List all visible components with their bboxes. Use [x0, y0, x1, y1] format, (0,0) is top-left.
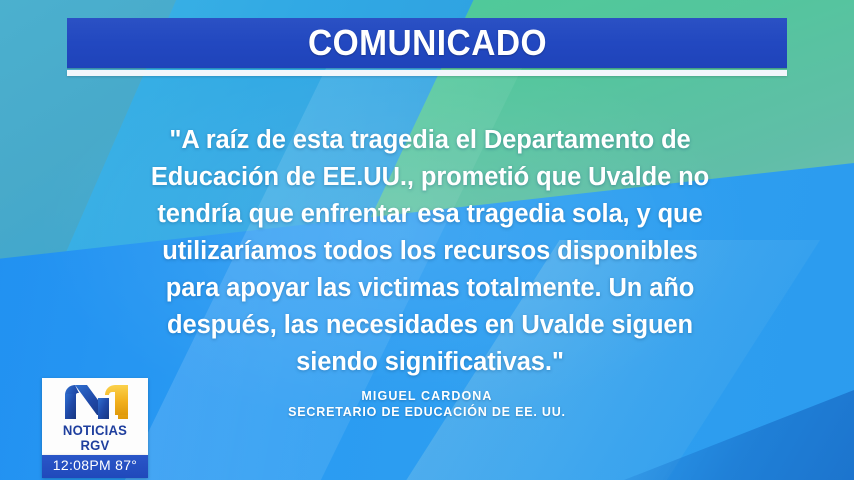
banner-bar: COMUNICADO: [67, 18, 787, 68]
station-wordmark: NOTICIAS RGV: [48, 423, 141, 453]
banner-title: COMUNICADO: [307, 25, 546, 61]
clock-temperature-text: 12:08PM 87°: [53, 457, 137, 473]
noticias-rgv-logo-icon: [61, 382, 129, 422]
quote-line: para apoyar las victimas totalmente. Un …: [105, 270, 755, 307]
quote-line: siendo significativas.": [105, 344, 755, 381]
quote-line: utilizaríamos todos los recursos disponi…: [105, 233, 755, 270]
quote-line: después, las necesidades en Uvalde sigue…: [105, 307, 755, 344]
quote-line: Educación de EE.UU., prometió que Uvalde…: [105, 159, 755, 196]
clock-temperature-strip: 12:08PM 87°: [42, 455, 148, 478]
headline-banner: COMUNICADO: [67, 18, 787, 76]
quote-text: "A raíz de esta tragedia el Departamento…: [105, 122, 755, 381]
quote-line: "A raíz de esta tragedia el Departamento…: [105, 122, 755, 159]
banner-underline-rule: [67, 70, 787, 76]
station-logo-card: NOTICIAS RGV: [42, 378, 148, 455]
quote-line: tendría que enfrentar esa tragedia sola,…: [105, 196, 755, 233]
station-bug: NOTICIAS RGV 12:08PM 87°: [42, 378, 148, 478]
broadcast-lower-third-graphic: COMUNICADO "A raíz de esta tragedia el D…: [0, 0, 854, 480]
